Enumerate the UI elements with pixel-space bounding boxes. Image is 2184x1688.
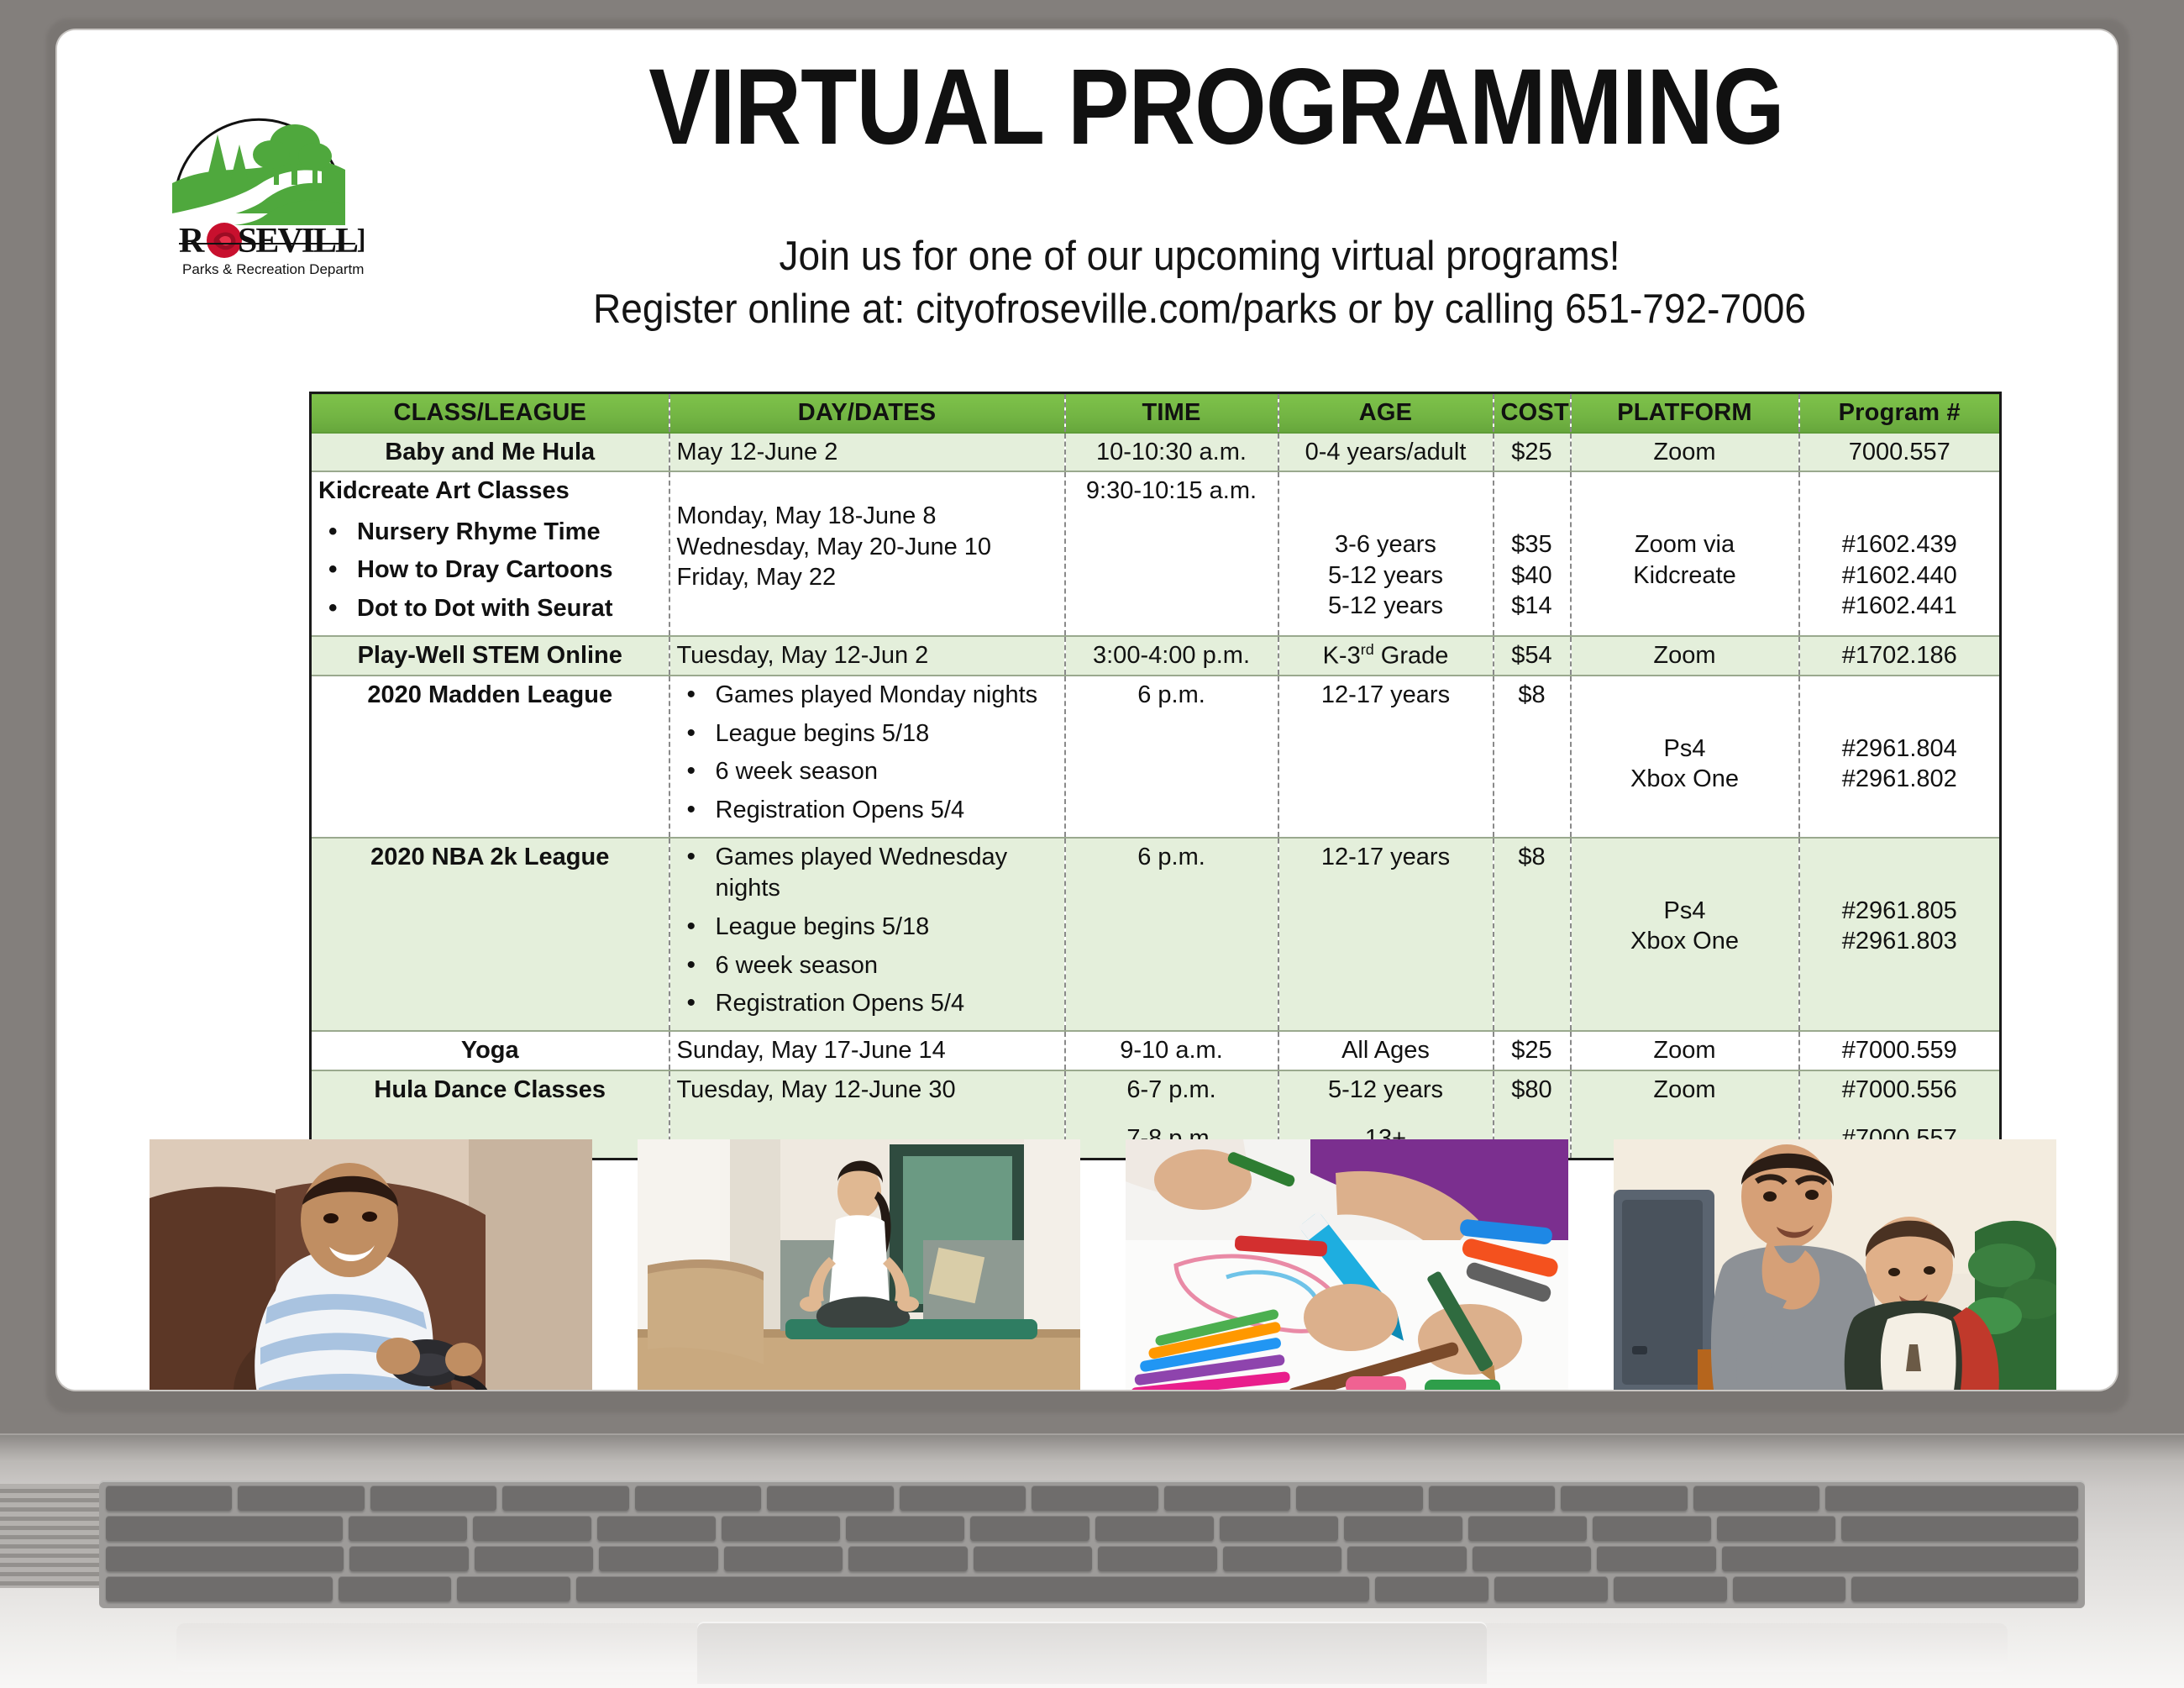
column-header-day-dates: DAY/DATES: [669, 393, 1065, 433]
key: [473, 1516, 591, 1541]
day-bullet-list: Games played Wednesday nights League beg…: [677, 842, 1058, 1020]
program-line: #1602.439: [1807, 529, 1993, 560]
key: [1722, 1546, 2079, 1571]
list-item: League begins 5/18: [716, 718, 1058, 750]
cell-platform: Zoom via Kidcreate: [1571, 471, 1799, 636]
key: [635, 1486, 761, 1511]
key: [1296, 1486, 1422, 1511]
laptop-hinge: [0, 1435, 2184, 1465]
key: [597, 1516, 716, 1541]
svg-text:R: R: [179, 222, 205, 260]
page-title: VIRTUAL PROGRAMMING: [486, 54, 1945, 161]
keyboard-row: [99, 1546, 2085, 1571]
table-row: Play-Well STEM Online Tuesday, May 12-Ju…: [311, 636, 2001, 676]
roseville-parks-logo: R SEVILLE Parks & Recreation Department: [154, 57, 364, 284]
key: [1494, 1576, 1608, 1601]
cell-cost: $25: [1494, 1031, 1571, 1070]
photo-strip: [150, 1139, 2056, 1390]
table-row: 2020 Madden League Games played Monday n…: [311, 676, 2001, 838]
key: [1032, 1486, 1158, 1511]
list-item: 6 week season: [716, 950, 1058, 982]
cost-line: $40: [1501, 560, 1563, 592]
program-line: #2961.803: [1807, 926, 1993, 957]
subtitle-line-2: Register online at: cityofroseville.com/…: [386, 283, 2013, 336]
laptop-keyboard[interactable]: [99, 1480, 2085, 1608]
list-item: Nursery Rhyme Time: [357, 517, 662, 549]
program-line: #2961.805: [1807, 896, 1993, 927]
photo-children-drawing: [1126, 1139, 1568, 1390]
flyer-document: R SEVILLE Parks & Recreation Department …: [57, 30, 2117, 1390]
key: [848, 1546, 968, 1571]
cost-line: $35: [1501, 529, 1563, 560]
flyer-subtitle: Join us for one of our upcoming virtual …: [386, 230, 2013, 335]
column-header-time: TIME: [1065, 393, 1278, 433]
key: [1717, 1516, 1835, 1541]
cell-class: Baby and Me Hula: [311, 433, 669, 472]
key: [349, 1516, 467, 1541]
cell-time: 6 p.m.: [1065, 838, 1278, 1031]
platform-line: Ps4: [1578, 734, 1792, 765]
platform-line: Zoom via: [1578, 529, 1792, 560]
cell-cost: $54: [1494, 636, 1571, 676]
key: [576, 1576, 1369, 1601]
list-item: Registration Opens 5/4: [716, 795, 1058, 827]
table-body: Baby and Me Hula May 12-June 2 10-10:30 …: [311, 433, 2001, 1160]
cost-line: $14: [1501, 591, 1563, 622]
cell-class: 2020 NBA 2k League: [311, 838, 669, 1031]
key: [106, 1486, 232, 1511]
key: [1220, 1516, 1338, 1541]
keyboard-row: [99, 1576, 2085, 1601]
cell-days: Monday, May 18-June 8 Wednesday, May 20-…: [669, 471, 1065, 636]
program-line: #1602.441: [1807, 591, 1993, 622]
photo-woman-yoga: [638, 1139, 1080, 1390]
key: [106, 1546, 344, 1571]
key: [970, 1516, 1089, 1541]
key: [1593, 1516, 1711, 1541]
list-item: Dot to Dot with Seurat: [357, 593, 662, 625]
program-line: #2961.802: [1807, 764, 1993, 795]
programs-table: CLASS/LEAGUE DAY/DATES TIME AGE COST PLA…: [309, 392, 2002, 1160]
platform-line: Ps4: [1578, 896, 1792, 927]
cell-program: #2961.804 #2961.802: [1799, 676, 2001, 838]
table-header: CLASS/LEAGUE DAY/DATES TIME AGE COST PLA…: [311, 393, 2001, 433]
table-header-row: CLASS/LEAGUE DAY/DATES TIME AGE COST PLA…: [311, 393, 2001, 433]
key: [475, 1546, 594, 1571]
key: [339, 1576, 452, 1601]
cell-class: Yoga: [311, 1031, 669, 1070]
key: [1344, 1516, 1462, 1541]
keyboard-row: [99, 1516, 2085, 1541]
key: [1468, 1516, 1587, 1541]
program-line: #1602.440: [1807, 560, 1993, 592]
key: [1733, 1576, 1846, 1601]
keyboard-row: [99, 1486, 2085, 1511]
age-line: 5-12 years: [1286, 560, 1486, 592]
cell-age: 3-6 years 5-12 years 5-12 years: [1278, 471, 1494, 636]
key: [1561, 1486, 1687, 1511]
cell-time: 3:00-4:00 p.m.: [1065, 636, 1278, 676]
cell-age: K-3rd Grade: [1278, 636, 1494, 676]
key: [900, 1486, 1026, 1511]
cell-class: 2020 Madden League: [311, 676, 669, 838]
program-line: #2961.804: [1807, 734, 1993, 765]
list-item: Registration Opens 5/4: [716, 988, 1058, 1020]
column-header-program-number: Program #: [1799, 393, 2001, 433]
list-item: Games played Wednesday nights: [716, 842, 1058, 905]
key: [1597, 1546, 1716, 1571]
program-line: #7000.556: [1807, 1075, 1993, 1106]
key: [1429, 1486, 1555, 1511]
age-line: 3-6 years: [1286, 529, 1486, 560]
age-line: 5-12 years: [1286, 591, 1486, 622]
flyer-header: R SEVILLE Parks & Recreation Department …: [57, 30, 2117, 366]
key: [846, 1516, 964, 1541]
cell-days: May 12-June 2: [669, 433, 1065, 472]
age-line: 5-12 years: [1286, 1075, 1486, 1106]
class-title: Kidcreate Art Classes: [318, 476, 662, 507]
key: [106, 1576, 333, 1601]
laptop-screen: R SEVILLE Parks & Recreation Department …: [57, 30, 2117, 1390]
age-prefix: K-3: [1323, 642, 1361, 669]
key: [1851, 1576, 2078, 1601]
key: [1347, 1546, 1467, 1571]
cell-class: Kidcreate Art Classes Nursery Rhyme Time…: [311, 471, 669, 636]
table-row: Yoga Sunday, May 17-June 14 9-10 a.m. Al…: [311, 1031, 2001, 1070]
photo-boy-gaming: [150, 1139, 592, 1390]
svg-text:Parks & Recreation Department: Parks & Recreation Department: [182, 261, 364, 277]
cell-program: #2961.805 #2961.803: [1799, 838, 2001, 1031]
laptop-trackpad[interactable]: [697, 1622, 1487, 1684]
cell-program: #1702.186: [1799, 636, 2001, 676]
key: [1473, 1546, 1592, 1571]
class-bullet-list: Nursery Rhyme Time How to Dray Cartoons …: [318, 517, 662, 625]
cell-program: #7000.559: [1799, 1031, 2001, 1070]
key: [767, 1486, 893, 1511]
day-line: Friday, May 22: [677, 562, 1058, 593]
screenshot-stage: R SEVILLE Parks & Recreation Department …: [0, 0, 2184, 1688]
key: [1223, 1546, 1342, 1571]
day-line: Wednesday, May 20-June 10: [677, 532, 1058, 563]
svg-text:SEVILLE: SEVILLE: [238, 222, 364, 260]
column-header-cost: COST: [1494, 393, 1571, 433]
column-header-age: AGE: [1278, 393, 1494, 433]
cell-time: 9:30-10:15 a.m.: [1065, 471, 1278, 636]
key: [1375, 1576, 1488, 1601]
table-row: Kidcreate Art Classes Nursery Rhyme Time…: [311, 471, 2001, 636]
table-row: 2020 NBA 2k League Games played Wednesda…: [311, 838, 2001, 1031]
key: [974, 1546, 1093, 1571]
cell-platform: Zoom: [1571, 1031, 1799, 1070]
cell-time: 9-10 a.m.: [1065, 1031, 1278, 1070]
list-item: League begins 5/18: [716, 912, 1058, 944]
key: [1098, 1546, 1217, 1571]
cell-time: 10-10:30 a.m.: [1065, 433, 1278, 472]
cell-platform: Ps4 Xbox One: [1571, 838, 1799, 1031]
key: [238, 1486, 364, 1511]
key: [722, 1516, 840, 1541]
list-item: Games played Monday nights: [716, 680, 1058, 712]
key: [1693, 1486, 1819, 1511]
platform-line: Xbox One: [1578, 926, 1792, 957]
table-row: Baby and Me Hula May 12-June 2 10-10:30 …: [311, 433, 2001, 472]
cell-days: Sunday, May 17-June 14: [669, 1031, 1065, 1070]
cell-program: #1602.439 #1602.440 #1602.441: [1799, 471, 2001, 636]
cell-class: Play-Well STEM Online: [311, 636, 669, 676]
column-header-platform: PLATFORM: [1571, 393, 1799, 433]
platform-line: Xbox One: [1578, 764, 1792, 795]
cell-program: 7000.557: [1799, 433, 2001, 472]
key: [457, 1576, 570, 1601]
day-line: Monday, May 18-June 8: [677, 501, 1058, 532]
cell-days: Games played Monday nights League begins…: [669, 676, 1065, 838]
cell-days: Tuesday, May 12-Jun 2: [669, 636, 1065, 676]
key: [599, 1546, 718, 1571]
cell-platform: Ps4 Xbox One: [1571, 676, 1799, 838]
cell-cost: $8: [1494, 676, 1571, 838]
key: [724, 1546, 843, 1571]
day-bullet-list: Games played Monday nights League begins…: [677, 680, 1058, 827]
key: [1841, 1516, 2078, 1541]
photo-father-and-son-at-computer: [1614, 1139, 2056, 1390]
cell-cost: $35 $40 $14: [1494, 471, 1571, 636]
key: [1614, 1576, 1727, 1601]
key: [106, 1516, 343, 1541]
key: [1825, 1486, 2078, 1511]
key: [349, 1546, 469, 1571]
key: [502, 1486, 628, 1511]
column-header-class-league: CLASS/LEAGUE: [311, 393, 669, 433]
cell-cost: $25: [1494, 433, 1571, 472]
key: [1164, 1486, 1290, 1511]
list-item: How to Dray Cartoons: [357, 555, 662, 586]
cell-age: 12-17 years: [1278, 676, 1494, 838]
age-ordinal-suffix: rd: [1361, 641, 1374, 658]
key: [1095, 1516, 1214, 1541]
cell-platform: Zoom: [1571, 636, 1799, 676]
list-item: 6 week season: [716, 756, 1058, 788]
cell-age: 12-17 years: [1278, 838, 1494, 1031]
key: [370, 1486, 496, 1511]
cell-age: All Ages: [1278, 1031, 1494, 1070]
cell-cost: $8: [1494, 838, 1571, 1031]
cell-platform: Zoom: [1571, 433, 1799, 472]
time-line: 6-7 p.m.: [1073, 1075, 1271, 1106]
age-suffix: Grade: [1374, 642, 1449, 669]
cell-age: 0-4 years/adult: [1278, 433, 1494, 472]
cell-time: 6 p.m.: [1065, 676, 1278, 838]
subtitle-line-1: Join us for one of our upcoming virtual …: [386, 230, 2013, 283]
cell-days: Games played Wednesday nights League beg…: [669, 838, 1065, 1031]
platform-line: Kidcreate: [1578, 560, 1792, 592]
